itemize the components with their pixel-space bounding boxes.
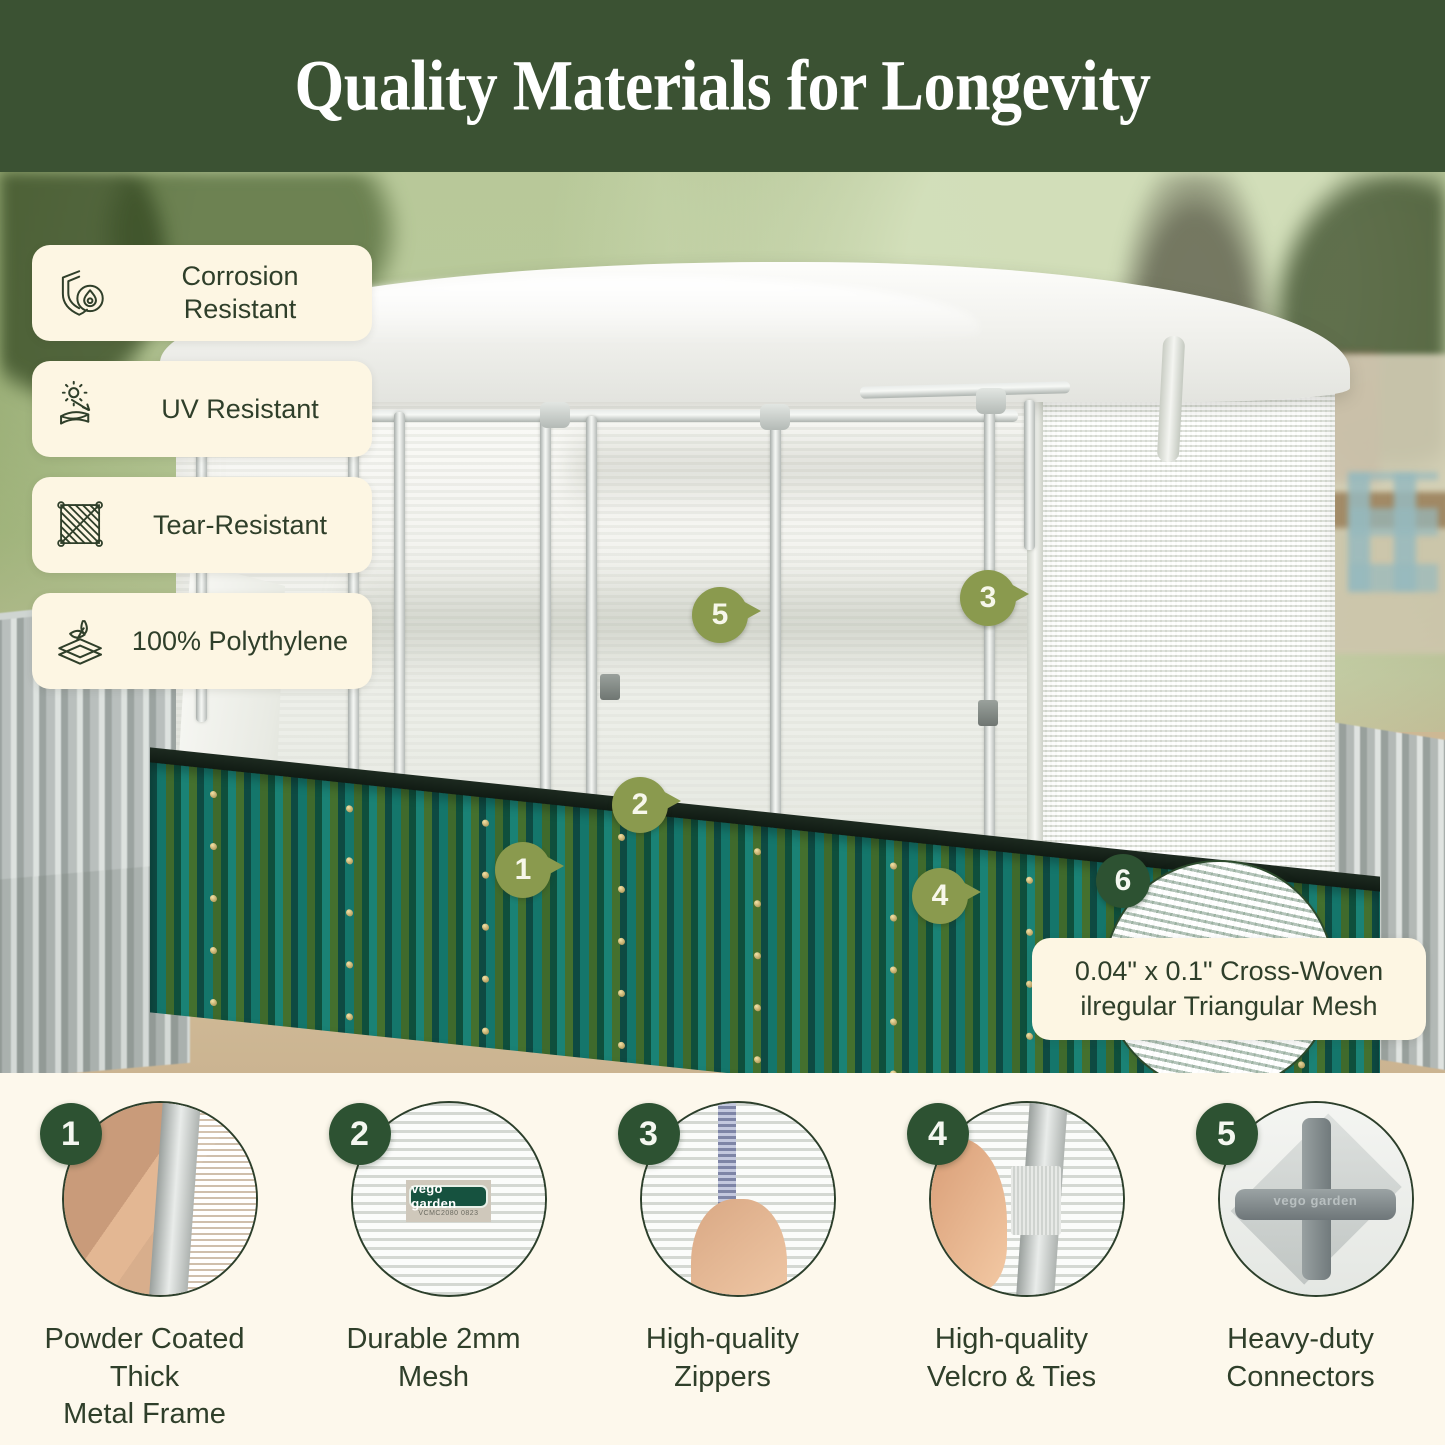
thumbnail-caption: Durable 2mm Mesh bbox=[346, 1321, 520, 1396]
thumbnail-caption-line-2: Connectors bbox=[1226, 1359, 1374, 1397]
thumbnail-caption-line-2: Metal Frame bbox=[7, 1396, 283, 1434]
brand-label: vego garden bbox=[409, 1185, 487, 1208]
frame-pole bbox=[1024, 400, 1035, 550]
bed-screw bbox=[1026, 876, 1033, 884]
thumbnail-caption-line-1: High-quality bbox=[646, 1321, 799, 1359]
thumbnail-item-zippers[interactable]: 3 High-quality Zippers bbox=[585, 1095, 861, 1396]
bed-screw bbox=[618, 990, 625, 998]
feature-pill-label: Tear-Resistant bbox=[126, 509, 354, 542]
thumbnail-circle-wrap: 3 bbox=[618, 1095, 828, 1305]
bed-screw bbox=[618, 834, 625, 842]
bed-screw bbox=[482, 923, 489, 931]
bed-screw bbox=[1026, 1032, 1033, 1040]
bed-screw bbox=[1026, 928, 1033, 936]
feature-pill-label: 100% Polythylene bbox=[126, 625, 354, 658]
bed-screw bbox=[618, 886, 625, 894]
infographic-page: Quality Materials for Longevity bbox=[0, 0, 1445, 1445]
thumbnail-badge-3: 3 bbox=[618, 1103, 680, 1165]
thumbnail-caption-line-1: Powder Coated Thick bbox=[7, 1321, 283, 1396]
photo-pin-3: 3 bbox=[960, 570, 1016, 626]
layered-leaf-icon bbox=[50, 610, 112, 672]
thumbnail-badge-1: 1 bbox=[40, 1103, 102, 1165]
bed-screw bbox=[482, 975, 489, 983]
thumbnail-circle-wrap: vego garden 5 bbox=[1196, 1095, 1406, 1305]
thumbnail-caption: High-quality Velcro & Ties bbox=[927, 1321, 1096, 1396]
scene-brand-tag: vego garden VCMC2080 0823 bbox=[406, 1180, 490, 1222]
bed-screw bbox=[754, 900, 761, 908]
feature-pill-list: Corrosion Resistant UV Resistant bbox=[32, 245, 372, 709]
photo-pin-2: 2 bbox=[612, 777, 668, 833]
bed-screw bbox=[210, 999, 217, 1007]
feature-pill-uv-resistant[interactable]: UV Resistant bbox=[32, 361, 372, 457]
thumbnail-caption-line-1: Durable 2mm bbox=[346, 1321, 520, 1359]
sun-uv-fabric-icon bbox=[50, 378, 112, 440]
frame-connector bbox=[540, 402, 570, 428]
thumbnail-caption: Heavy-duty Connectors bbox=[1226, 1321, 1374, 1396]
bed-screw bbox=[890, 862, 897, 870]
feature-pill-label: UV Resistant bbox=[126, 393, 354, 426]
photo-pin-5: 5 bbox=[692, 587, 748, 643]
thumbnail-badge-4: 4 bbox=[907, 1103, 969, 1165]
mesh-spec-line-1: 0.04" x 0.1" Cross-Woven bbox=[1052, 954, 1406, 989]
photo-pin-1: 1 bbox=[495, 842, 551, 898]
frame-connector bbox=[976, 388, 1006, 414]
bed-screw bbox=[754, 1004, 761, 1012]
thumbnail-badge-5: 5 bbox=[1196, 1103, 1258, 1165]
thumbnail-caption-line-2: Velcro & Ties bbox=[927, 1359, 1096, 1397]
thumbnail-item-velcro-ties[interactable]: 4 High-quality Velcro & Ties bbox=[874, 1095, 1150, 1396]
thumbnail-item-durable-mesh[interactable]: vego garden VCMC2080 0823 2 Durable 2mm … bbox=[296, 1095, 572, 1396]
thumbnail-caption: High-quality Zippers bbox=[646, 1321, 799, 1396]
mesh-net-icon bbox=[50, 494, 112, 556]
bed-screw bbox=[754, 1056, 761, 1064]
thumbnail-caption-line-1: Heavy-duty bbox=[1226, 1321, 1374, 1359]
bed-screw bbox=[210, 843, 217, 851]
feature-pill-tear-resistant[interactable]: Tear-Resistant bbox=[32, 477, 372, 573]
scene-velcro-strap bbox=[1011, 1166, 1061, 1235]
bed-screw bbox=[482, 1027, 489, 1035]
thumbnail-badge-2: 2 bbox=[329, 1103, 391, 1165]
bed-screw bbox=[618, 938, 625, 946]
brand-code: VCMC2080 0823 bbox=[418, 1210, 478, 1217]
bed-screw bbox=[754, 848, 761, 856]
thumbnail-circle-wrap: 1 bbox=[40, 1095, 250, 1305]
bed-screw bbox=[346, 805, 353, 813]
photo-pin-6: 6 bbox=[1096, 854, 1150, 908]
frame-connector bbox=[760, 404, 790, 430]
cover-clip bbox=[978, 700, 998, 726]
bed-screw bbox=[346, 857, 353, 865]
thumbnail-caption-line-2: Zippers bbox=[646, 1359, 799, 1397]
bed-screw bbox=[890, 914, 897, 922]
bed-screw bbox=[1298, 1061, 1305, 1069]
mesh-spec-callout: 0.04" x 0.1" Cross-Woven ilregular Trian… bbox=[1032, 938, 1426, 1040]
bed-screw bbox=[754, 952, 761, 960]
header-banner: Quality Materials for Longevity bbox=[0, 0, 1445, 172]
detail-thumbnail-strip: 1 Powder Coated Thick Metal Frame vego g… bbox=[0, 1073, 1445, 1445]
bed-screw bbox=[210, 791, 217, 799]
feature-pill-polythylene[interactable]: 100% Polythylene bbox=[32, 593, 372, 689]
thumbnail-item-metal-frame[interactable]: 1 Powder Coated Thick Metal Frame bbox=[7, 1095, 283, 1434]
bed-screw bbox=[618, 1042, 625, 1050]
thumbnail-caption: Powder Coated Thick Metal Frame bbox=[7, 1321, 283, 1434]
thumbnail-caption-line-1: High-quality bbox=[927, 1321, 1096, 1359]
shield-droplet-icon bbox=[50, 262, 112, 324]
feature-pill-corrosion-resistant[interactable]: Corrosion Resistant bbox=[32, 245, 372, 341]
photo-pin-4: 4 bbox=[912, 868, 968, 924]
bed-screw bbox=[210, 947, 217, 955]
bed-screw bbox=[210, 895, 217, 903]
bed-screw bbox=[890, 1018, 897, 1026]
bed-screw bbox=[890, 966, 897, 974]
thumbnail-circle-wrap: vego garden VCMC2080 0823 2 bbox=[329, 1095, 539, 1305]
bed-screw bbox=[346, 1013, 353, 1021]
thumbnail-row: 1 Powder Coated Thick Metal Frame vego g… bbox=[0, 1095, 1445, 1434]
thumbnail-caption-line-2: Mesh bbox=[346, 1359, 520, 1397]
thumbnail-circle-wrap: 4 bbox=[907, 1095, 1117, 1305]
mesh-spec-line-2: ilregular Triangular Mesh bbox=[1052, 989, 1406, 1024]
connector-brand-text: vego garden bbox=[1220, 1193, 1412, 1208]
bed-screw bbox=[482, 871, 489, 879]
cover-clip bbox=[600, 674, 620, 700]
bed-screw bbox=[346, 961, 353, 969]
page-title: Quality Materials for Longevity bbox=[294, 45, 1150, 128]
bed-screw bbox=[482, 819, 489, 827]
bed-screw bbox=[346, 909, 353, 917]
thumbnail-item-connectors[interactable]: vego garden 5 Heavy-duty Connectors bbox=[1163, 1095, 1439, 1396]
feature-pill-label: Corrosion Resistant bbox=[126, 260, 354, 326]
